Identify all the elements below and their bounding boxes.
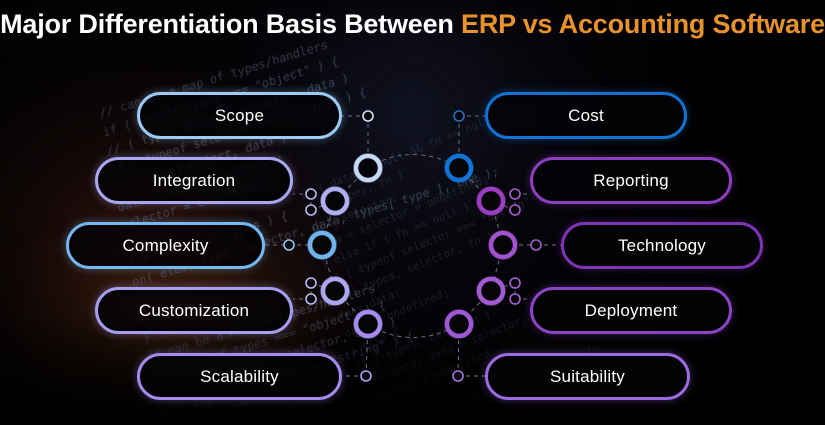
left-dot-1 bbox=[363, 111, 373, 121]
pill-complexity[interactable]: Complexity bbox=[66, 222, 265, 269]
right-ring-3[interactable] bbox=[489, 231, 517, 259]
left-ring-5[interactable] bbox=[354, 310, 382, 338]
right-ring-2[interactable] bbox=[477, 187, 505, 215]
pill-deployment[interactable]: Deployment bbox=[530, 287, 732, 334]
left-ring-3[interactable] bbox=[308, 231, 336, 259]
pill-label: Technology bbox=[618, 236, 706, 256]
right-ring-5[interactable] bbox=[445, 310, 473, 338]
pill-scope[interactable]: Scope bbox=[137, 92, 342, 139]
pill-label: Cost bbox=[568, 106, 604, 126]
right-dot-1 bbox=[454, 111, 464, 121]
right-dot-2 bbox=[510, 189, 520, 199]
right-dot-6 bbox=[510, 294, 520, 304]
right-ring-1[interactable] bbox=[445, 154, 473, 182]
right-dot-4 bbox=[531, 240, 541, 250]
pill-label: Customization bbox=[139, 301, 249, 321]
right-dot-3 bbox=[510, 205, 520, 215]
right-ring-4[interactable] bbox=[477, 277, 505, 305]
left-ring-2[interactable] bbox=[321, 187, 349, 215]
left-dot-7 bbox=[361, 371, 371, 381]
pill-integration[interactable]: Integration bbox=[95, 157, 293, 204]
pill-technology[interactable]: Technology bbox=[561, 222, 763, 269]
pill-cost[interactable]: Cost bbox=[485, 92, 687, 139]
left-dot-3 bbox=[306, 205, 316, 215]
infographic-canvas: // can be a map of types/handlersif ( ty… bbox=[0, 0, 825, 425]
pill-suitability[interactable]: Suitability bbox=[485, 353, 690, 400]
pill-label: Reporting bbox=[593, 171, 669, 191]
pill-label: Scope bbox=[215, 106, 264, 126]
left-dot-6 bbox=[306, 294, 316, 304]
left-ring-1[interactable] bbox=[354, 154, 382, 182]
pill-customization[interactable]: Customization bbox=[95, 287, 293, 334]
pill-label: Suitability bbox=[550, 367, 625, 387]
pill-label: Deployment bbox=[585, 301, 678, 321]
pill-scalability[interactable]: Scalability bbox=[137, 353, 342, 400]
pill-label: Complexity bbox=[122, 236, 208, 256]
connector-graph bbox=[0, 0, 825, 425]
left-dot-4 bbox=[284, 240, 294, 250]
pill-label: Scalability bbox=[200, 367, 279, 387]
pill-reporting[interactable]: Reporting bbox=[530, 157, 732, 204]
left-dot-5 bbox=[306, 278, 316, 288]
right-dot-5 bbox=[510, 278, 520, 288]
left-ring-4[interactable] bbox=[321, 277, 349, 305]
pill-label: Integration bbox=[153, 171, 236, 191]
left-dot-2 bbox=[306, 189, 316, 199]
right-dot-7 bbox=[453, 371, 463, 381]
